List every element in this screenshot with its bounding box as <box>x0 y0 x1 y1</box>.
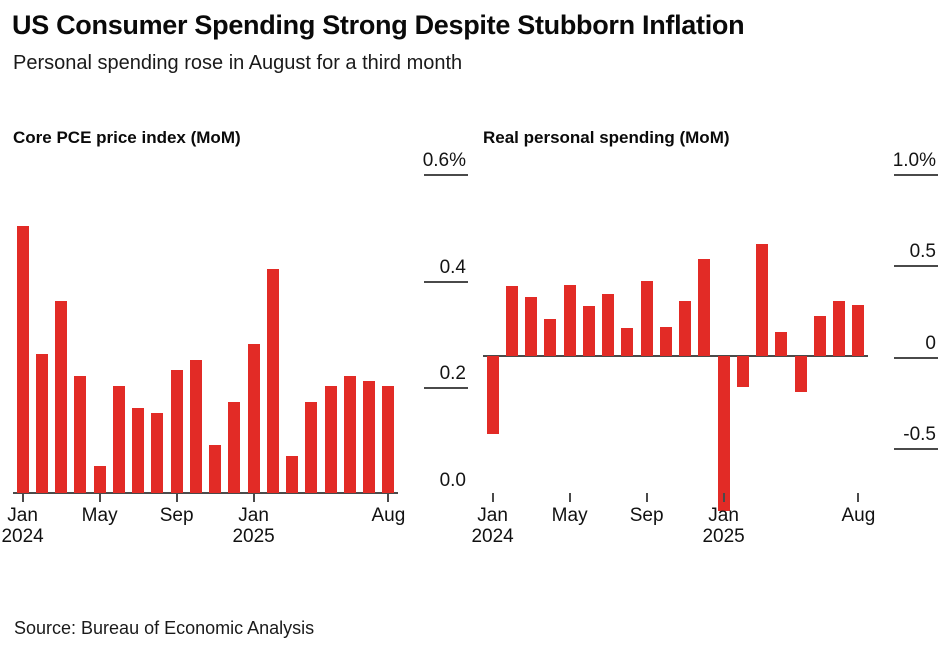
x-axis-tick-mark <box>22 493 24 502</box>
bar[interactable] <box>74 376 86 493</box>
bar[interactable] <box>564 285 576 356</box>
y-axis-tick-label: 1.0% <box>872 151 938 171</box>
x-axis-tick-mark <box>176 493 178 502</box>
y-axis-tick: 0.0 <box>402 471 468 496</box>
bar[interactable] <box>344 376 356 493</box>
x-axis-tick-mark <box>723 493 725 502</box>
bar[interactable] <box>55 301 67 493</box>
bar[interactable] <box>660 327 672 356</box>
panel-real-spending: Real personal spending (MoM) 1.0%0.50-0.… <box>480 128 940 558</box>
bar[interactable] <box>814 316 826 356</box>
x-axis-tick-year: 2024 <box>1 526 43 547</box>
x-axis-tick-label: Jan2025 <box>232 505 274 547</box>
bar[interactable] <box>248 344 260 493</box>
chart-page: US Consumer Spending Strong Despite Stub… <box>0 0 940 652</box>
x-axis-tick-mark <box>253 493 255 502</box>
panel-title-core-pce: Core PCE price index (MoM) <box>13 128 241 148</box>
y-axis-tick: 0.5 <box>872 242 938 267</box>
bar[interactable] <box>583 306 595 355</box>
y-axis-tick-label: 0.6% <box>402 151 468 171</box>
x-axis-tick-label: May <box>82 505 118 526</box>
bar[interactable] <box>228 402 240 493</box>
x-axis-tick-label: Aug <box>371 505 405 526</box>
bar[interactable] <box>641 281 653 356</box>
bar-series-core-pce <box>13 173 398 493</box>
y-axis-tick-rule <box>894 448 938 450</box>
source-note: Source: Bureau of Economic Analysis <box>14 618 314 639</box>
bar[interactable] <box>775 332 787 356</box>
bar[interactable] <box>17 226 29 493</box>
y-axis-tick: 0.6% <box>402 151 468 176</box>
x-axis-tick-label: May <box>552 505 588 526</box>
y-axis-tick-rule <box>424 494 468 496</box>
bar[interactable] <box>487 356 499 435</box>
bar[interactable] <box>286 456 298 493</box>
x-axis-tick-label: Jan2024 <box>1 505 43 547</box>
bar[interactable] <box>718 356 730 511</box>
y-axis-tick: 1.0% <box>872 151 938 176</box>
bar[interactable] <box>325 386 337 493</box>
y-axis-tick-label: 0.0 <box>402 471 468 491</box>
bar[interactable] <box>363 381 375 493</box>
y-axis-tick-rule <box>424 281 468 283</box>
x-axis-tick-label: Sep <box>160 505 194 526</box>
plot-area-core-pce <box>13 173 398 493</box>
bar[interactable] <box>756 244 768 356</box>
bar[interactable] <box>36 354 48 493</box>
bar[interactable] <box>525 297 537 356</box>
y-axis-tick: 0 <box>872 334 938 359</box>
y-axis-tick-rule <box>424 387 468 389</box>
panel-title-real-spending: Real personal spending (MoM) <box>483 128 730 148</box>
bar[interactable] <box>267 269 279 493</box>
panel-core-pce: Core PCE price index (MoM) 0.6%0.40.20.0… <box>10 128 470 558</box>
bar[interactable] <box>190 360 202 493</box>
bar-series-real-spending <box>483 173 868 493</box>
y-axis-tick-rule <box>894 174 938 176</box>
page-headline: US Consumer Spending Strong Despite Stub… <box>12 10 744 41</box>
x-axis-tick-mark <box>857 493 859 502</box>
x-axis-core-pce: Jan2024MaySepJan2025Aug <box>13 493 398 553</box>
x-axis-tick-year: 2025 <box>702 526 744 547</box>
y-axis-tick: 0.2 <box>402 364 468 389</box>
x-axis-tick-mark <box>646 493 648 502</box>
bar[interactable] <box>544 319 556 356</box>
x-axis-tick-label: Sep <box>630 505 664 526</box>
bar[interactable] <box>852 305 864 356</box>
plot-area-real-spending <box>483 173 868 493</box>
bar[interactable] <box>382 386 394 493</box>
x-axis-tick-mark <box>492 493 494 502</box>
x-axis-tick-year: 2025 <box>232 526 274 547</box>
bar[interactable] <box>171 370 183 493</box>
y-axis-tick-label: 0.5 <box>872 242 938 262</box>
y-axis-tick-label: -0.5 <box>872 425 938 445</box>
y-axis-tick-label: 0.4 <box>402 258 468 278</box>
bar[interactable] <box>113 386 125 493</box>
x-axis-tick-label: Aug <box>841 505 875 526</box>
bar[interactable] <box>737 356 749 387</box>
y-axis-tick-label: 0 <box>872 334 938 354</box>
bar[interactable] <box>305 402 317 493</box>
x-axis-tick-mark <box>387 493 389 502</box>
y-axis-tick: 0.4 <box>402 258 468 283</box>
bar[interactable] <box>506 286 518 355</box>
y-axis-core-pce: 0.6%0.40.20.0 <box>402 173 468 493</box>
y-axis-tick-rule <box>894 357 938 359</box>
bar[interactable] <box>795 356 807 393</box>
page-subheadline: Personal spending rose in August for a t… <box>13 52 462 75</box>
y-axis-tick-rule <box>424 174 468 176</box>
bar[interactable] <box>698 259 710 356</box>
y-axis-tick-rule <box>894 265 938 267</box>
y-axis-real-spending: 1.0%0.50-0.5 <box>872 173 938 493</box>
bar[interactable] <box>151 413 163 493</box>
bar[interactable] <box>132 408 144 493</box>
x-axis-tick-mark <box>569 493 571 502</box>
x-axis-tick-label: Jan2024 <box>471 505 513 547</box>
x-axis-tick-year: 2024 <box>471 526 513 547</box>
zero-baseline <box>483 355 868 357</box>
x-axis-tick-mark <box>99 493 101 502</box>
x-axis-tick-label: Jan2025 <box>702 505 744 547</box>
bar[interactable] <box>621 328 633 355</box>
y-axis-tick: -0.5 <box>872 425 938 450</box>
bar[interactable] <box>94 466 106 493</box>
y-axis-tick-label: 0.2 <box>402 364 468 384</box>
x-axis-real-spending: Jan2024MaySepJan2025Aug <box>483 493 868 553</box>
bar[interactable] <box>833 301 845 356</box>
bar[interactable] <box>679 301 691 356</box>
bar[interactable] <box>209 445 221 493</box>
bar[interactable] <box>602 294 614 356</box>
